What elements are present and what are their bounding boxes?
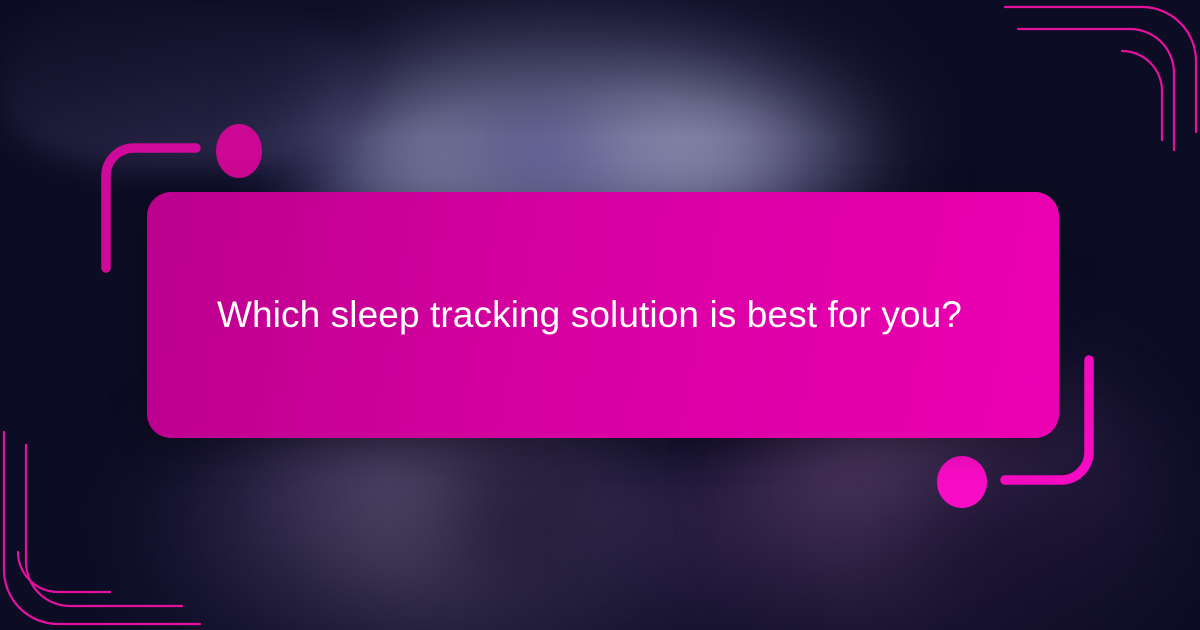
headline-card: Which sleep tracking solution is best fo… [147, 192, 1059, 438]
accent-dot-bottom-right [937, 456, 987, 508]
headline-title: Which sleep tracking solution is best fo… [147, 291, 1026, 338]
banner-root: Which sleep tracking solution is best fo… [0, 0, 1200, 630]
accent-dot-top-left [216, 124, 262, 178]
